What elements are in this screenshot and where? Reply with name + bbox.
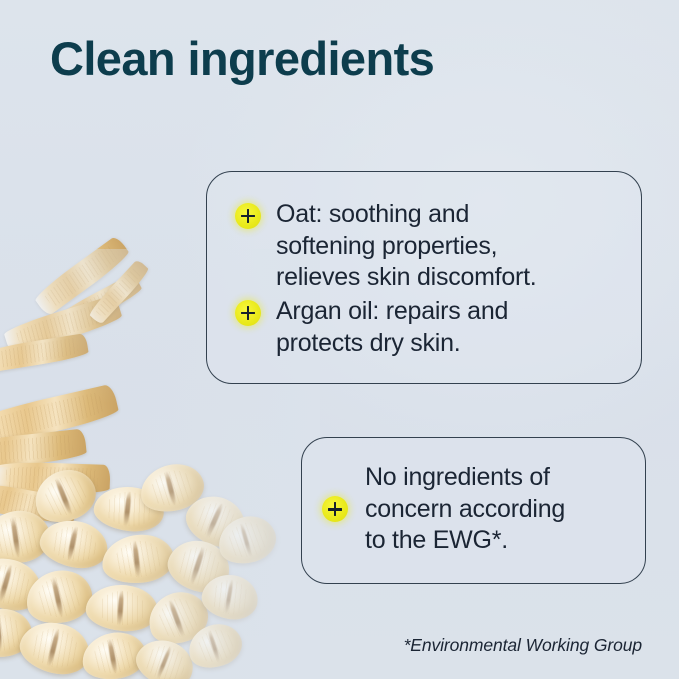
list-item-oat: Oat: soothing and softening properties, …	[235, 199, 625, 294]
page-title: Clean ingredients	[50, 34, 434, 83]
promo-graphic: Clean ingredients Oat: soothing and soft…	[0, 0, 679, 679]
footnote: *Environmental Working Group	[404, 635, 642, 656]
list-item-ewg: No ingredients of concern according to t…	[322, 462, 632, 557]
list-item-argan-oil-text: Argan oil: repairs and protects dry skin…	[276, 296, 508, 359]
plus-badge-icon	[235, 203, 261, 229]
plus-badge-icon	[235, 300, 261, 326]
list-item-oat-text: Oat: soothing and softening properties, …	[276, 199, 537, 294]
ingredients-card: Oat: soothing and softening properties, …	[206, 171, 642, 384]
list-item-argan-oil: Argan oil: repairs and protects dry skin…	[235, 296, 625, 359]
list-item-ewg-text: No ingredients of concern according to t…	[365, 462, 565, 557]
plus-badge-icon	[322, 496, 348, 522]
ewg-card: No ingredients of concern according to t…	[301, 437, 646, 584]
